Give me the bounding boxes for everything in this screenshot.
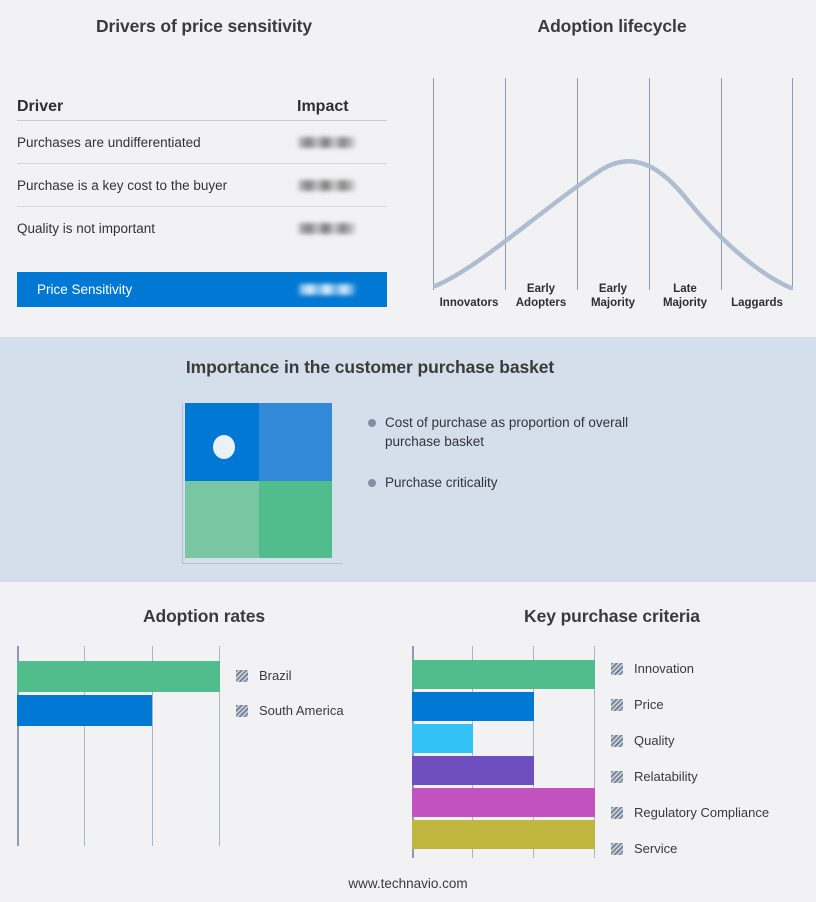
legend-label: Brazil xyxy=(259,668,292,683)
legend-label: Purchase criticality xyxy=(385,473,498,492)
legend-item[interactable]: Regulatory Compliance xyxy=(611,805,811,820)
bar-relatability[interactable] xyxy=(412,756,534,785)
legend-item[interactable]: Service xyxy=(611,841,811,856)
bar-brazil[interactable] xyxy=(17,661,220,692)
table-row[interactable]: Purchases are undifferentiated xyxy=(17,121,387,164)
legend-label: Price xyxy=(634,697,664,712)
matrix-marker-dot xyxy=(213,435,235,459)
drivers-panel: Drivers of price sensitivity Driver Impa… xyxy=(0,0,408,337)
hatch-swatch-icon xyxy=(236,670,248,682)
legend-item[interactable]: Brazil xyxy=(236,668,396,683)
lifecycle-plot-area xyxy=(433,78,793,290)
quadrant-bottom-right[interactable] xyxy=(259,481,333,559)
redacted-impact-value xyxy=(297,223,357,234)
bar-innovation[interactable] xyxy=(412,660,595,689)
table-row[interactable]: Purchase is a key cost to the buyer xyxy=(17,164,387,207)
hatch-swatch-icon xyxy=(236,705,248,717)
importance-panel: Importance in the customer purchase bask… xyxy=(0,337,816,582)
table-header-row: Driver Impact xyxy=(17,88,387,121)
key-purchase-criteria-panel: Key purchase criteria Innovation xyxy=(408,582,816,902)
price-sensitivity-label: Price Sensitivity xyxy=(37,282,297,297)
stage-label-innovators: Innovators xyxy=(433,297,505,311)
redacted-impact-value xyxy=(297,284,357,295)
column-header-driver: Driver xyxy=(17,98,297,116)
drivers-title: Drivers of price sensitivity xyxy=(0,16,408,37)
legend-label: Service xyxy=(634,841,677,856)
key-purchase-criteria-legend: Innovation Price Quality Relatability Re… xyxy=(611,661,811,856)
bullet-icon xyxy=(368,419,376,427)
impact-cell xyxy=(297,178,387,193)
redacted-impact-value xyxy=(297,180,357,191)
hatch-swatch-icon xyxy=(611,807,623,819)
lifecycle-stage-labels: Innovators EarlyAdopters EarlyMajority L… xyxy=(433,270,793,310)
stage-label-late-majority: LateMajority xyxy=(649,283,721,310)
legend-label: Regulatory Compliance xyxy=(634,805,769,820)
bullet-icon xyxy=(368,479,376,487)
bar-price[interactable] xyxy=(412,692,534,721)
quadrant-top-right[interactable] xyxy=(259,403,333,481)
adoption-lifecycle-title: Adoption lifecycle xyxy=(408,16,816,37)
bar-row-regulatory-compliance[interactable] xyxy=(412,788,595,817)
adoption-rates-plot xyxy=(17,646,220,846)
quadrant-top-left[interactable] xyxy=(185,403,259,481)
column-header-impact: Impact xyxy=(297,98,387,116)
quadrant-matrix xyxy=(182,403,342,569)
stage-label-laggards: Laggards xyxy=(721,297,793,311)
bar-service[interactable] xyxy=(412,820,595,849)
bar-row-south-america[interactable] xyxy=(17,695,220,726)
adoption-rates-title: Adoption rates xyxy=(0,606,408,627)
hatch-swatch-icon xyxy=(611,699,623,711)
legend-item[interactable]: Innovation xyxy=(611,661,811,676)
bar-row-service[interactable] xyxy=(412,820,595,849)
legend-label: Cost of purchase as proportion of overal… xyxy=(385,413,647,451)
legend-label: Relatability xyxy=(634,769,698,784)
key-purchase-criteria-title: Key purchase criteria xyxy=(408,606,816,627)
hatch-swatch-icon xyxy=(611,663,623,675)
legend-label: Quality xyxy=(634,733,674,748)
legend-label: Innovation xyxy=(634,661,694,676)
stage-label-early-adopters: EarlyAdopters xyxy=(505,283,577,310)
key-purchase-criteria-plot xyxy=(412,646,595,858)
footer-url[interactable]: www.technavio.com xyxy=(0,876,816,891)
legend-item: Cost of purchase as proportion of overal… xyxy=(368,413,698,451)
bell-curve xyxy=(433,78,793,290)
legend-item[interactable]: Price xyxy=(611,697,811,712)
quadrant-bottom-left[interactable] xyxy=(185,481,259,559)
adoption-rates-legend: Brazil South America xyxy=(236,668,396,718)
bar-row-brazil[interactable] xyxy=(17,661,220,692)
legend-item: Purchase criticality xyxy=(368,473,698,492)
price-sensitivity-impact xyxy=(297,281,387,299)
matrix-grid xyxy=(185,403,332,558)
bar-quality[interactable] xyxy=(412,724,473,753)
table-row[interactable]: Quality is not important xyxy=(17,207,387,249)
adoption-rates-panel: Adoption rates Brazil South America xyxy=(0,582,408,902)
legend-label: South America xyxy=(259,703,344,718)
stage-label-early-majority: EarlyMajority xyxy=(577,283,649,310)
bar-regulatory-compliance[interactable] xyxy=(412,788,595,817)
driver-cell: Purchases are undifferentiated xyxy=(17,135,297,150)
legend-item[interactable]: Quality xyxy=(611,733,811,748)
driver-cell: Purchase is a key cost to the buyer xyxy=(17,178,297,193)
bar-row-relatability[interactable] xyxy=(412,756,595,785)
impact-cell xyxy=(297,135,387,150)
legend-item[interactable]: Relatability xyxy=(611,769,811,784)
adoption-lifecycle-panel: Adoption lifecycle Innovators EarlyAdopt… xyxy=(408,0,816,337)
bar-row-innovation[interactable] xyxy=(412,660,595,689)
bar-row-price[interactable] xyxy=(412,692,595,721)
hatch-swatch-icon xyxy=(611,735,623,747)
importance-legend: Cost of purchase as proportion of overal… xyxy=(368,413,698,514)
redacted-impact-value xyxy=(297,137,357,148)
bar-south-america[interactable] xyxy=(17,695,152,726)
impact-cell xyxy=(297,221,387,236)
drivers-table: Driver Impact Purchases are undifferenti… xyxy=(17,88,387,249)
matrix-y-axis xyxy=(182,403,183,563)
bar-row-quality[interactable] xyxy=(412,724,595,753)
hatch-swatch-icon xyxy=(611,843,623,855)
importance-title: Importance in the customer purchase bask… xyxy=(0,357,740,378)
driver-cell: Quality is not important xyxy=(17,221,297,236)
legend-item[interactable]: South America xyxy=(236,703,396,718)
matrix-x-axis xyxy=(182,563,342,564)
price-sensitivity-highlight-row[interactable]: Price Sensitivity xyxy=(17,272,387,307)
hatch-swatch-icon xyxy=(611,771,623,783)
